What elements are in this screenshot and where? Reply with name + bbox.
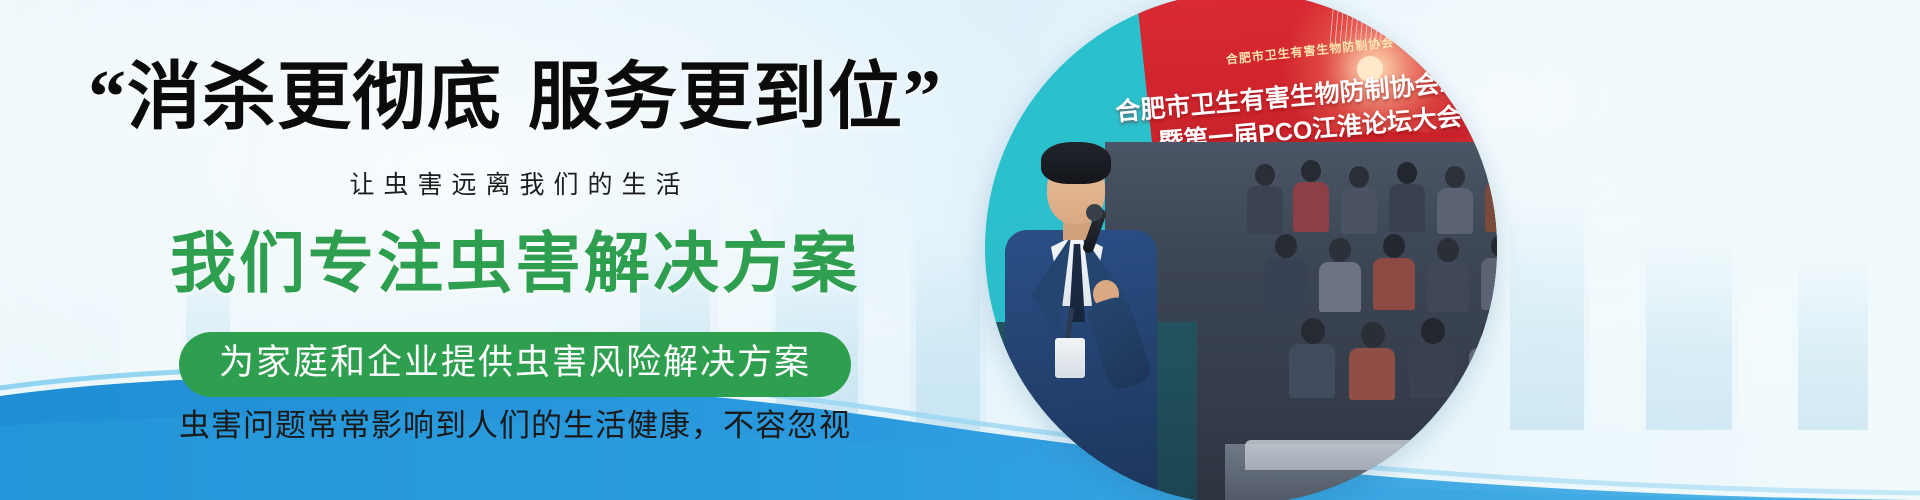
photo-person-body <box>1265 258 1307 310</box>
speaker-hair <box>1041 142 1111 184</box>
microphone-head-icon <box>1086 204 1103 221</box>
solution-pill-badge: 为家庭和企业提供虫害风险解决方案 <box>179 332 851 397</box>
text-content: “消杀更彻底服务更到位” 让虫害远离我们的生活 我们专注虫害解决方案 为家庭和企… <box>0 0 1030 500</box>
speaker-badge <box>1055 338 1085 378</box>
headline-part-2: 服务更到位 <box>528 55 903 138</box>
photo-person-head <box>1481 322 1497 348</box>
headline-part-1: 消杀更彻底 <box>127 55 502 138</box>
photo-person-head <box>1301 160 1321 182</box>
sub-headline: 让虫害远离我们的生活 <box>0 168 1030 202</box>
photo-speaker <box>985 112 1175 500</box>
photo-person-body <box>1341 188 1377 234</box>
close-quote: ” <box>903 55 942 139</box>
promo-banner: “消杀更彻底服务更到位” 让虫害远离我们的生活 我们专注虫害解决方案 为家庭和企… <box>0 0 1920 500</box>
photo-person-body <box>1481 258 1497 310</box>
photo-person-head <box>1397 162 1417 184</box>
photo-person-body <box>1349 348 1395 400</box>
photo-person-head <box>1383 234 1405 258</box>
photo-person-body <box>1319 262 1361 312</box>
photo-person-body <box>1485 182 1497 232</box>
photo-person-body <box>1437 188 1473 234</box>
photo-seat-row <box>1245 440 1497 470</box>
photo-person-head <box>1421 318 1445 344</box>
photo-person-head <box>1361 322 1385 348</box>
photo-person-head <box>1491 234 1497 258</box>
photo-person-body <box>1409 344 1455 398</box>
open-quote: “ <box>88 55 127 139</box>
photo-person-head <box>1493 160 1497 182</box>
photo-person-body <box>1247 186 1283 234</box>
photo-person-body <box>1293 182 1329 232</box>
photo-person-body <box>1427 262 1469 312</box>
pill-row: 为家庭和企业提供虫害风险解决方案 <box>0 332 1030 397</box>
photo-person-body <box>1469 348 1497 400</box>
green-headline: 我们专注虫害解决方案 <box>0 222 1030 304</box>
photo-inner: 合肥市卫生有害生物防制协会 合肥市卫生有害生物防制协会2023 暨第一届PCO江… <box>985 0 1497 500</box>
conference-photo: 合肥市卫生有害生物防制协会 合肥市卫生有害生物防制协会2023 暨第一届PCO江… <box>985 0 1497 500</box>
photo-person-head <box>1255 164 1275 186</box>
photo-person-head <box>1349 166 1369 188</box>
photo-person-head <box>1275 234 1297 258</box>
photo-person-body <box>1389 184 1425 232</box>
page-title: “消杀更彻底服务更到位” <box>0 52 1030 142</box>
photo-person-body <box>1289 344 1335 398</box>
photo-person-head <box>1437 238 1459 262</box>
photo-person-head <box>1301 318 1325 344</box>
photo-person-body <box>1373 258 1415 310</box>
footer-description: 虫害问题常常影响到人们的生活健康，不容忽视 <box>0 405 1030 447</box>
photo-person-head <box>1445 166 1465 188</box>
photo-person-head <box>1329 238 1351 262</box>
